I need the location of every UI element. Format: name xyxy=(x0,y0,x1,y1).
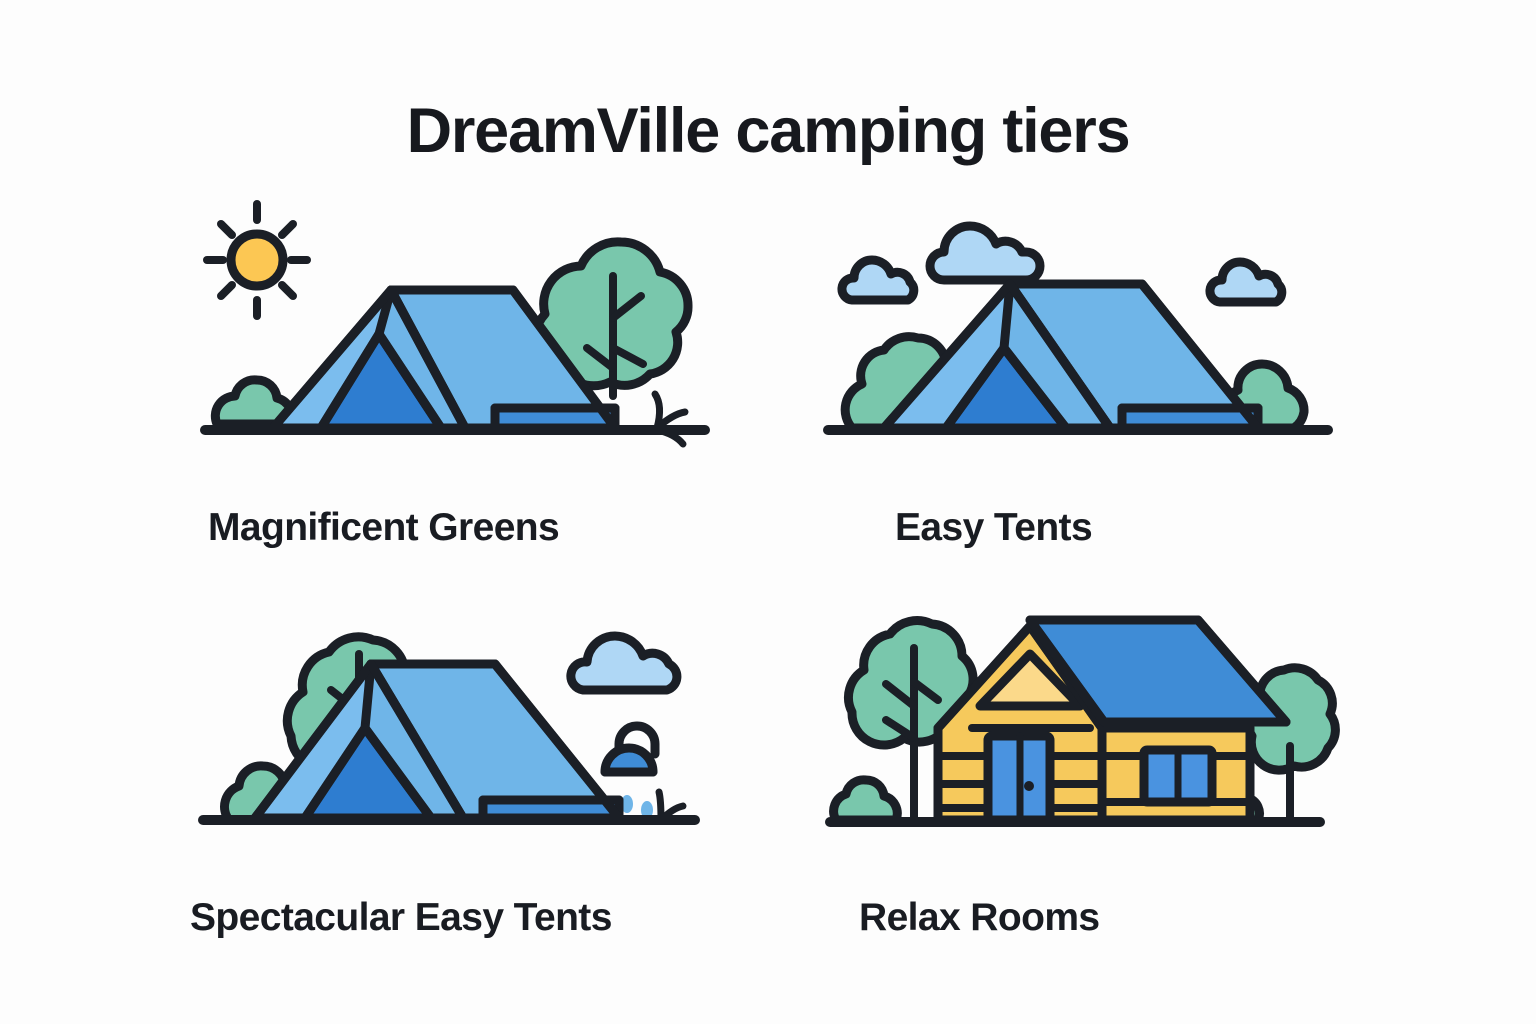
cloud-small-left-icon xyxy=(841,260,913,300)
tier-card-magnificent-greens[interactable]: Magnificent Greens xyxy=(150,196,759,586)
tier-card-easy-tents[interactable]: Easy Tents xyxy=(777,196,1386,586)
shower-head-icon xyxy=(605,726,655,772)
cloud-icon xyxy=(570,636,676,690)
sun-icon xyxy=(231,234,283,286)
cloud-small-right-icon xyxy=(1209,262,1281,302)
bush-left-icon xyxy=(833,780,897,820)
tier-grid: Magnificent Greens xyxy=(150,196,1386,976)
tier-label: Easy Tents xyxy=(895,506,1092,550)
illustration-tent-with-tree-cloud-and-shower xyxy=(195,586,715,886)
grass-icon xyxy=(655,394,685,444)
tier-card-spectacular-easy-tents[interactable]: Spectacular Easy Tents xyxy=(150,586,759,976)
cabin-icon xyxy=(938,620,1286,820)
tier-label: Magnificent Greens xyxy=(208,506,559,550)
window-icon xyxy=(1144,750,1212,802)
cloud-large-icon xyxy=(930,226,1040,280)
tier-card-relax-rooms[interactable]: Relax Rooms xyxy=(777,586,1386,976)
door-icon xyxy=(988,736,1050,820)
tier-label: Spectacular Easy Tents xyxy=(190,896,612,940)
page-title: DreamVille camping tiers xyxy=(0,98,1536,164)
illustration-tent-with-sun-and-tree xyxy=(195,196,715,496)
poster-canvas: DreamVille camping tiers xyxy=(0,0,1536,1024)
tier-label: Relax Rooms xyxy=(859,896,1099,940)
illustration-log-cabin-with-trees xyxy=(822,586,1342,886)
illustration-tent-with-clouds-and-bushes xyxy=(822,196,1342,496)
